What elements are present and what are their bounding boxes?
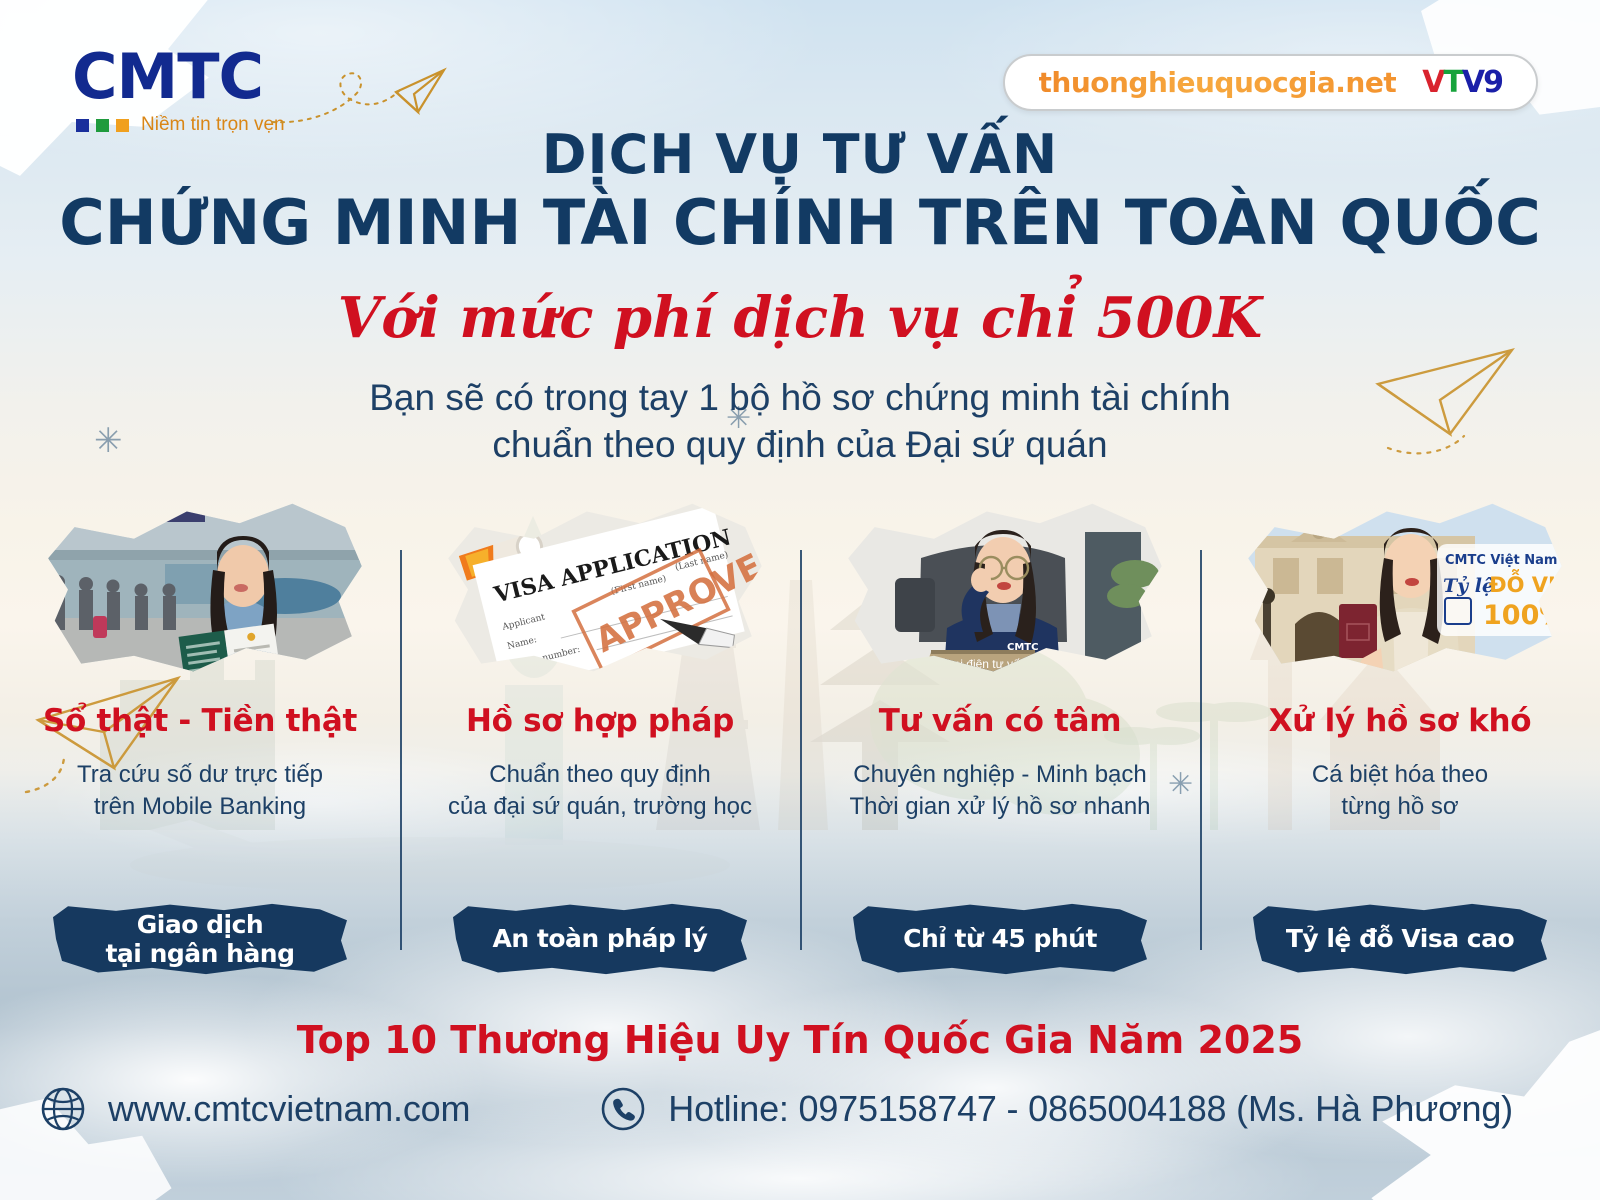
feature-photo-1 xyxy=(35,492,365,687)
feature-badge-2-text: An toàn pháp lý xyxy=(493,924,708,954)
feature-badge-2: An toàn pháp lý xyxy=(450,900,750,978)
feature-badge-1-line1: Giao dịch xyxy=(105,910,294,940)
feature-desc-1-line2: trên Mobile Banking xyxy=(77,791,323,823)
feature-desc-3-line1: Chuyên nghiệp - Minh bạch xyxy=(849,759,1150,791)
feature-badge-3: Chỉ từ 45 phút xyxy=(850,900,1150,978)
poster-canvas: ✳ ✳ ✳ CMTC Niềm tin trọn vẹn xyxy=(0,0,1600,1200)
svg-text:ĐỖ VISA: ĐỖ VISA xyxy=(1489,569,1565,597)
feature-column-1: Sổ thật - Tiền thật Tra cứu số dư trực t… xyxy=(0,488,400,1008)
feature-desc-3: Chuyên nghiệp - Minh bạch Thời gian xử l… xyxy=(849,759,1150,822)
feature-photo-4: CMTC Việt Nam Tỷ lệ ĐỖ VISA 100% xyxy=(1235,492,1565,687)
award-line: Top 10 Thương Hiệu Uy Tín Quốc Gia Năm 2… xyxy=(0,1018,1600,1062)
headline-line-2: CHỨNG MINH TÀI CHÍNH TRÊN TOÀN QUỐC xyxy=(0,189,1600,257)
headline-block: DỊCH VỤ TƯ VẤN CHỨNG MINH TÀI CHÍNH TRÊN… xyxy=(0,126,1600,257)
feature-desc-4-line2: từng hồ sơ xyxy=(1312,791,1488,823)
feature-badge-1-line2: tại ngân hàng xyxy=(105,939,294,969)
globe-icon xyxy=(40,1086,86,1132)
feature-desc-2-line2: của đại sứ quán, trường học xyxy=(448,791,752,823)
hotline-contact[interactable]: Hotline: 0975158747 - 0865004188 (Ms. Hà… xyxy=(600,1086,1513,1132)
feature-title-3: Tư vấn có tâm xyxy=(879,703,1122,739)
consultant-illustration: CMTC gọi điện tư vấn 24/7 xyxy=(835,492,1165,687)
feature-column-2: VISA APPLICATION Applicant Name: Phone n… xyxy=(400,488,800,1008)
feature-photo-2: VISA APPLICATION Applicant Name: Phone n… xyxy=(435,492,765,687)
feature-desc-1-line1: Tra cứu số dư trực tiếp xyxy=(77,759,323,791)
hotline-text: Hotline: 0975158747 - 0865004188 (Ms. Hà… xyxy=(668,1088,1513,1130)
feature-desc-2-line1: Chuẩn theo quy định xyxy=(448,759,752,791)
feature-title-2: Hồ sơ hợp pháp xyxy=(466,703,734,739)
feature-desc-4: Cá biệt hóa theo từng hồ sơ xyxy=(1312,759,1488,822)
feature-badge-4-text: Tỷ lệ đỗ Visa cao xyxy=(1286,924,1514,954)
feature-badge-2-line1: An toàn pháp lý xyxy=(493,924,708,954)
feature-title-1: Sổ thật - Tiền thật xyxy=(43,703,357,739)
subheadline-line-1: Bạn sẽ có trong tay 1 bộ hồ sơ chứng min… xyxy=(0,374,1600,421)
subheadline-line-2: chuẩn theo quy định của Đại sứ quán xyxy=(0,421,1600,468)
feature-desc-3-line2: Thời gian xử lý hồ sơ nhanh xyxy=(849,791,1150,823)
feature-desc-4-line1: Cá biệt hóa theo xyxy=(1312,759,1488,791)
feature-photo-3: CMTC gọi điện tư vấn 24/7 xyxy=(835,492,1165,687)
svg-text:CMTC Việt Nam: CMTC Việt Nam xyxy=(1445,553,1557,568)
svg-text:gọi điện tư vấn 24/7: gọi điện tư vấn 24/7 xyxy=(947,657,1053,671)
feature-badge-4-line1: Tỷ lệ đỗ Visa cao xyxy=(1286,924,1514,954)
features-row: Sổ thật - Tiền thật Tra cứu số dư trực t… xyxy=(0,488,1600,1008)
vtv9-logo: VTV9 xyxy=(1422,65,1502,100)
feature-column-3: CMTC gọi điện tư vấn 24/7 Tư vấn có tâm … xyxy=(800,488,1200,1008)
website-url: www.cmtcvietnam.com xyxy=(108,1088,470,1130)
price-headline: Với mức phí dịch vụ chỉ 500K xyxy=(0,285,1600,351)
subheadline-block: Bạn sẽ có trong tay 1 bộ hồ sơ chứng min… xyxy=(0,374,1600,469)
embassy-passport-illustration: CMTC Việt Nam Tỷ lệ ĐỖ VISA 100% xyxy=(1235,492,1565,687)
headline-line-1: DỊCH VỤ TƯ VẤN xyxy=(0,126,1600,183)
feature-column-4: CMTC Việt Nam Tỷ lệ ĐỖ VISA 100% Xử lý h… xyxy=(1200,488,1600,1008)
partner-site-label: thuonghieuquocgia.net xyxy=(1039,66,1397,99)
feature-badge-3-text: Chỉ từ 45 phút xyxy=(903,924,1097,954)
feature-desc-2: Chuẩn theo quy định của đại sứ quán, trư… xyxy=(448,759,752,822)
feature-badge-1: Giao dịch tại ngân hàng xyxy=(50,900,350,978)
feature-badge-4: Tỷ lệ đỗ Visa cao xyxy=(1250,900,1550,978)
phone-icon xyxy=(600,1086,646,1132)
website-contact[interactable]: www.cmtcvietnam.com xyxy=(40,1086,470,1132)
contact-bar: www.cmtcvietnam.com Hotline: 0975158747 … xyxy=(0,1086,1600,1132)
feature-badge-3-line1: Chỉ từ 45 phút xyxy=(903,924,1097,954)
partner-badge[interactable]: thuonghieuquocgia.net VTV9 xyxy=(1003,54,1539,111)
feature-title-4: Xử lý hồ sơ khó xyxy=(1269,703,1532,739)
airport-scene-illustration xyxy=(35,492,365,687)
svg-text:Tỷ lệ: Tỷ lệ xyxy=(1443,575,1494,597)
feature-badge-1-text: Giao dịch tại ngân hàng xyxy=(105,910,294,969)
visa-application-illustration: VISA APPLICATION Applicant Name: Phone n… xyxy=(435,492,765,687)
svg-text:100%: 100% xyxy=(1483,600,1565,631)
feature-desc-1: Tra cứu số dư trực tiếp trên Mobile Bank… xyxy=(77,759,323,822)
